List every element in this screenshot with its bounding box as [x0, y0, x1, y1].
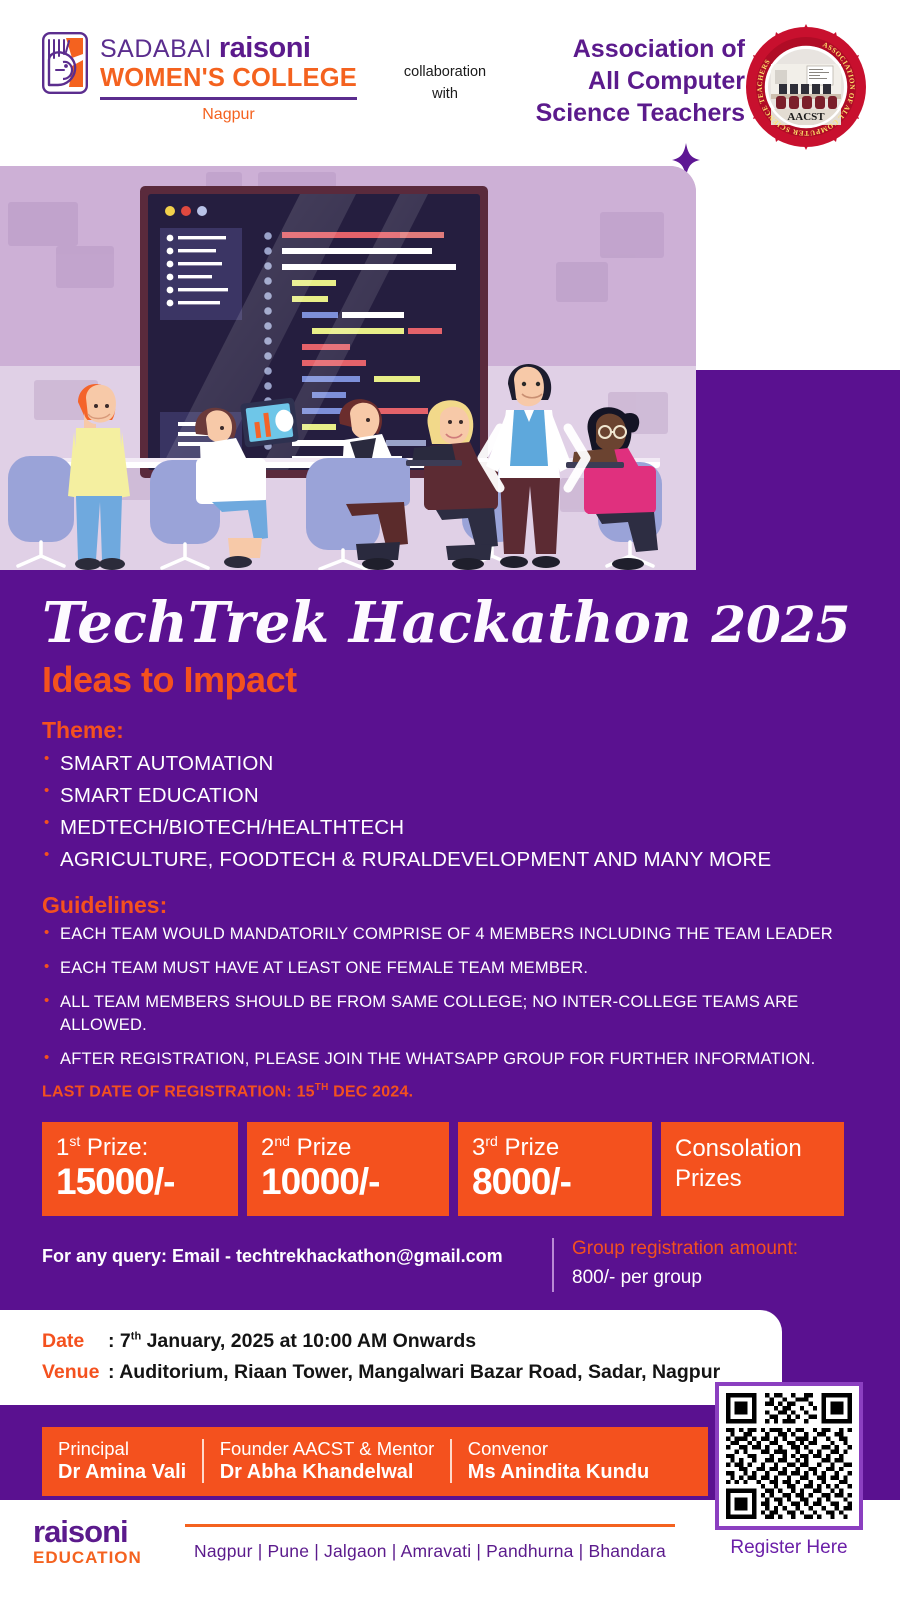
vertical-divider: [552, 1238, 554, 1292]
prize-ordinal-3: rd: [485, 1133, 497, 1149]
college-name-womens-college: WOMEN'S COLLEGE: [100, 64, 357, 93]
svg-text:AACST: AACST: [787, 111, 825, 123]
group-registration-value: 800/- per group: [572, 1267, 798, 1289]
prize-card-2: 2nd Prize 10000/-: [247, 1122, 449, 1216]
title-year: 2025: [711, 595, 850, 654]
signatory-role: Convenor: [468, 1437, 649, 1460]
college-name-sadabai: SADABAI: [100, 35, 212, 64]
date-value: : 7th January, 2025 at 10:00 AM Onwards: [108, 1326, 476, 1358]
partner-name: Association of All Computer Science Teac…: [495, 33, 745, 129]
partner-line-2: All Computer: [495, 65, 745, 97]
page-title: TechTrek Hackathon 2025: [42, 594, 900, 653]
prize-ordinal-2: nd: [274, 1133, 290, 1149]
query-row: For any query: Email - techtrekhackathon…: [42, 1238, 900, 1292]
venue-value: : Auditorium, Riaan Tower, Mangalwari Ba…: [108, 1357, 720, 1389]
raisoni-education-logo: raisoni EDUCATION: [33, 1516, 142, 1568]
prize-label-3: 3rd Prize: [472, 1134, 638, 1160]
list-item: AFTER REGISTRATION, PLEASE JOIN THE WHAT…: [42, 1048, 842, 1072]
prize-amount-2: 10000/-: [261, 1162, 435, 1202]
list-item: AGRICULTURE, FOODTECH & RURALDEVELOPMENT…: [42, 844, 900, 876]
partner-line-1: Association of: [495, 33, 745, 65]
last-date-of-registration: LAST DATE OF REGISTRATION: 15TH DEC 2024…: [42, 1082, 900, 1101]
poster-body: TechTrek Hackathon 2025 Ideas to Impact …: [0, 568, 900, 1496]
signatory-role: Founder AACST & Mentor: [220, 1437, 435, 1460]
prize-card-3: 3rd Prize 8000/-: [458, 1122, 652, 1216]
signatory-founder: Founder AACST & Mentor Dr Abha Khandelwa…: [204, 1437, 451, 1485]
prize-word-2: Prize: [297, 1134, 352, 1161]
prize-rank-3: 3: [472, 1134, 485, 1161]
prize-rank-2: 2: [261, 1134, 274, 1161]
prize-card-1: 1st Prize: 15000/-: [42, 1122, 238, 1216]
signatory-name: Dr Abha Khandelwal: [220, 1460, 435, 1485]
prize-rank-1: 1: [56, 1134, 69, 1161]
poster-header: SADABAI raisoni WOMEN'S COLLEGE Nagpur c…: [0, 0, 900, 165]
theme-heading: Theme:: [42, 717, 900, 744]
hero-illustration: [0, 166, 696, 570]
prize-word-3: Prize: [504, 1134, 559, 1161]
title-main: TechTrek Hackathon: [42, 590, 692, 656]
signatory-principal: Principal Dr Amina Vali: [42, 1437, 202, 1485]
event-date-row: Date : 7th January, 2025 at 10:00 AM Onw…: [42, 1326, 782, 1358]
event-venue-row: Venue : Auditorium, Riaan Tower, Mangalw…: [42, 1357, 782, 1389]
footer-rule: [185, 1524, 675, 1527]
college-logo: SADABAI raisoni WOMEN'S COLLEGE Nagpur: [42, 32, 357, 124]
date-label: Date: [42, 1326, 108, 1358]
footer-cities: Nagpur | Pune | Jalgaon | Amravati | Pan…: [185, 1541, 675, 1562]
prize-label-1: 1st Prize:: [56, 1134, 224, 1160]
college-name-raisoni: raisoni: [219, 32, 311, 65]
signatory-name: Dr Amina Vali: [58, 1460, 186, 1485]
signatory-name: Ms Anindita Kundu: [468, 1460, 649, 1485]
collaboration-line-1: collaboration: [390, 62, 500, 84]
footer-cities-block: Nagpur | Pune | Jalgaon | Amravati | Pan…: [185, 1524, 675, 1562]
footer-brand-sub: EDUCATION: [33, 1548, 142, 1568]
prize-label-4: Consolation Prizes: [675, 1134, 830, 1194]
prize-amount-3: 8000/-: [472, 1162, 638, 1202]
signatory-role: Principal: [58, 1437, 186, 1460]
group-registration-label: Group registration amount:: [572, 1238, 798, 1260]
qr-caption: Register Here: [715, 1537, 863, 1559]
theme-list: SMART AUTOMATION SMART EDUCATION MEDTECH…: [42, 748, 900, 876]
partner-line-3: Science Teachers: [495, 97, 745, 129]
collaboration-line-2: with: [390, 84, 500, 106]
logo-divider: [100, 97, 357, 100]
footer-brand-name: raisoni: [33, 1516, 142, 1547]
prize-list: 1st Prize: 15000/- 2nd Prize 10000/- 3rd…: [42, 1122, 900, 1216]
signatory-bar: Principal Dr Amina Vali Founder AACST & …: [42, 1427, 708, 1496]
prize-ordinal-1: st: [69, 1133, 80, 1149]
college-city: Nagpur: [100, 106, 357, 124]
guidelines-heading: Guidelines:: [42, 892, 900, 919]
prize-label-2: 2nd Prize: [261, 1134, 435, 1160]
last-date-suffix: DEC 2024.: [329, 1084, 414, 1101]
list-item: EACH TEAM WOULD MANDATORILY COMPRISE OF …: [42, 923, 842, 947]
lion-head-icon: [42, 32, 88, 94]
list-item: MEDTECH/BIOTECH/HEALTHTECH: [42, 812, 900, 844]
venue-label: Venue: [42, 1357, 108, 1389]
prize-card-4: Consolation Prizes: [661, 1122, 844, 1216]
register-qr-block[interactable]: Register Here: [715, 1382, 863, 1559]
query-email: For any query: Email - techtrekhackathon…: [42, 1238, 552, 1267]
signatory-convenor: Convenor Ms Anindita Kundu: [452, 1437, 665, 1485]
prize-word-1: Prize:: [87, 1134, 148, 1161]
purple-panel-upper-right: [696, 370, 900, 570]
event-details-card: Date : 7th January, 2025 at 10:00 AM Onw…: [0, 1310, 782, 1405]
list-item: SMART AUTOMATION: [42, 748, 900, 780]
aacst-badge-icon: ASSOCIATION OF ALL COMPUTER SCIENCE TEAC…: [745, 24, 867, 150]
collaboration-note: collaboration with: [390, 62, 500, 106]
last-date-prefix: LAST DATE OF REGISTRATION: 15: [42, 1084, 315, 1101]
guidelines-list: EACH TEAM WOULD MANDATORILY COMPRISE OF …: [42, 923, 900, 1073]
list-item: EACH TEAM MUST HAVE AT LEAST ONE FEMALE …: [42, 957, 842, 981]
last-date-ordinal: TH: [315, 1082, 329, 1093]
page-subtitle: Ideas to Impact: [42, 659, 900, 701]
list-item: SMART EDUCATION: [42, 780, 900, 812]
list-item: ALL TEAM MEMBERS SHOULD BE FROM SAME COL…: [42, 991, 842, 1039]
qr-code-icon[interactable]: [715, 1382, 863, 1530]
group-registration: Group registration amount: 800/- per gro…: [572, 1238, 798, 1289]
prize-amount-1: 15000/-: [56, 1162, 224, 1202]
